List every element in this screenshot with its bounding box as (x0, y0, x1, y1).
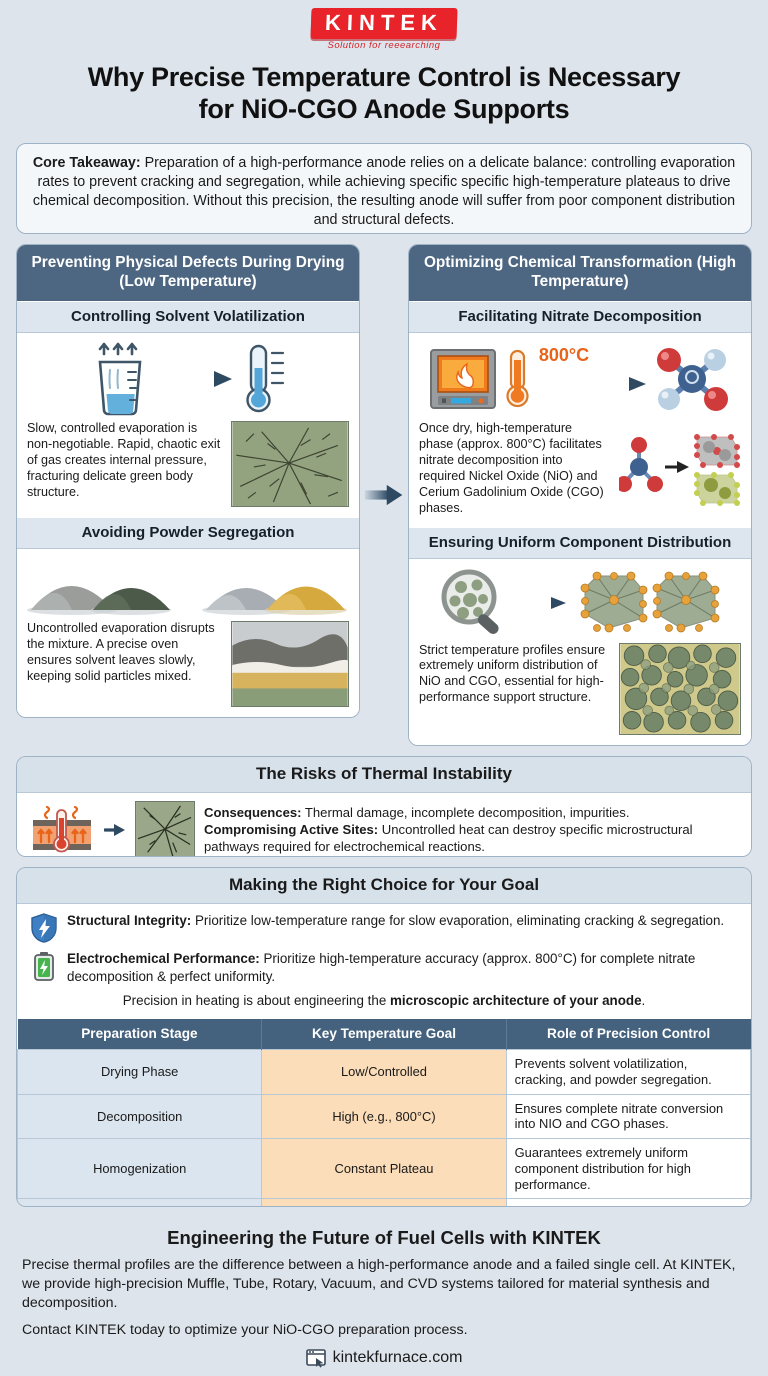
cell-role: Protects microscopic architecture and pr… (506, 1199, 750, 1207)
cell-role: Prevents solvent volatilization, crackin… (506, 1050, 750, 1094)
two-column-section: Preventing Physical Defects During Dryin… (16, 244, 752, 745)
footer-website[interactable]: kintekfurnace.com (22, 1348, 746, 1368)
cell-role: Ensures complete nitrate conversion into… (506, 1094, 750, 1138)
table-row: Drying Phase Low/Controlled Prevents sol… (18, 1050, 751, 1094)
table-row: Decomposition High (e.g., 800°C) Ensures… (18, 1094, 751, 1138)
arrow-right-icon (172, 370, 234, 388)
magnifier-icon (439, 569, 509, 637)
footer-paragraph: Precise thermal profiles are the differe… (22, 1256, 746, 1313)
choice-item-0-label: Structural Integrity: (67, 913, 191, 928)
right-column-panel: Optimizing Chemical Transformation (High… (408, 244, 752, 745)
left-column-panel: Preventing Physical Defects During Dryin… (16, 244, 360, 718)
table-head: Preparation Stage Key Temperature Goal R… (18, 1019, 751, 1050)
core-takeaway-card: Core Takeaway: Preparation of a high-per… (16, 143, 752, 234)
infographic-page: KINTEK Solution for reeearching Why Prec… (0, 0, 768, 1376)
left-column-header: Preventing Physical Defects During Dryin… (17, 245, 359, 301)
cell-stage: Decomposition (18, 1094, 262, 1138)
arrow-right-icon (364, 484, 404, 506)
right-block-1-text: Strict temperature profiles ensure extre… (419, 643, 609, 706)
footer-contact: Contact KINTEK today to optimize your Ni… (22, 1321, 746, 1340)
left-block-1-text-row: Uncontrolled evaporation disrupts the mi… (27, 621, 349, 707)
cell-stage: Drying Phase (18, 1050, 262, 1094)
right-block-0-text-row: Once dry, high-temperature phase (approx… (419, 421, 741, 516)
right-block-1-body: Strict temperature profiles ensure extre… (409, 559, 751, 745)
uniform-distribution-illustration (419, 567, 741, 639)
cell-role: Guarantees extremely uniform component d… (506, 1139, 750, 1199)
battery-bolt-icon (31, 951, 57, 981)
table-col-role-of-precision-control: Role of Precision Control (506, 1019, 750, 1050)
left-block-1-text: Uncontrolled evaporation disrupts the mi… (27, 621, 221, 684)
table-body: Drying Phase Low/Controlled Prevents sol… (18, 1050, 751, 1207)
right-block-0-subhead: Facilitating Nitrate Decomposition (409, 301, 751, 333)
page-title-line1: Why Precise Temperature Control is Neces… (88, 62, 681, 92)
cell-goal: Low/Controlled (262, 1050, 506, 1094)
right-block-0-text: Once dry, high-temperature phase (approx… (419, 421, 609, 516)
thermometer-hot-icon (503, 348, 533, 410)
shield-bolt-icon (31, 913, 57, 943)
risks-body: Consequences: Thermal damage, incomplete… (17, 793, 751, 858)
powder-piles-illustration (27, 557, 349, 617)
temperature-badge: 800°C (539, 345, 589, 366)
table-row: Structural Cooling Controlled Ramp Prote… (18, 1199, 751, 1207)
left-block-0-text-row: Slow, controlled evaporation is non-nego… (27, 421, 349, 507)
cell-goal: High (e.g., 800°C) (262, 1094, 506, 1138)
page-footer: Engineering the Future of Fuel Cells wit… (0, 1217, 768, 1376)
nitrate-to-oxides-illustration (619, 427, 741, 511)
thermometer-icon (244, 342, 292, 416)
cracked-green-body-image (231, 421, 349, 507)
table-header-row: Preparation Stage Key Temperature Goal R… (18, 1019, 751, 1050)
choice-item-0-body: Prioritize low-temperature range for slo… (191, 913, 724, 928)
right-block-0-body: 800°C (409, 333, 751, 526)
risks-line-2-label: Compromising Active Sites: (204, 822, 378, 837)
cgo-crystal (694, 472, 740, 506)
right-column-header: Optimizing Chemical Transformation (High… (409, 245, 751, 301)
choice-note: Precision in heating is about engineerin… (31, 992, 737, 1010)
choice-note-bold: microscopic architecture of your anode (390, 993, 642, 1008)
layered-segregation-image (231, 621, 349, 707)
beaker-icon (84, 342, 162, 416)
table-col-preparation-stage: Preparation Stage (18, 1019, 262, 1050)
risks-line-1-label: Consequences: (204, 805, 302, 820)
furnace-icon (429, 348, 497, 410)
preparation-stage-table: Preparation Stage Key Temperature Goal R… (17, 1019, 751, 1207)
beaker-evaporation-illustration (27, 341, 349, 417)
core-takeaway-label: Core Takeaway: (33, 155, 141, 171)
choice-note-prefix: Precision in heating is about engineerin… (123, 993, 390, 1008)
choice-item-1-text: Electrochemical Performance: Prioritize … (67, 950, 737, 985)
risks-line-1: Consequences: Thermal damage, incomplete… (204, 804, 739, 821)
crystal-lattice-pair-icon (579, 570, 721, 636)
choice-item-0-text: Structural Integrity: Prioritize low-tem… (67, 912, 737, 929)
left-block-1-subhead: Avoiding Powder Segregation (17, 517, 359, 549)
footer-title: Engineering the Future of Fuel Cells wit… (22, 1227, 746, 1249)
table-col-key-temperature-goal: Key Temperature Goal (262, 1019, 506, 1050)
risks-line-2: Compromising Active Sites: Uncontrolled … (204, 821, 739, 855)
browser-window-icon (306, 1348, 326, 1368)
nio-crystal (694, 434, 740, 468)
furnace-decomposition-illustration: 800°C (419, 341, 741, 417)
cell-stage: Homogenization (18, 1139, 262, 1199)
arrow-right-icon (595, 376, 647, 392)
risks-line-1-text: Thermal damage, incomplete decomposition… (302, 805, 630, 820)
cracked-surface-image (135, 801, 195, 858)
left-block-0-body: Slow, controlled evaporation is non-nego… (17, 333, 359, 517)
right-block-1-subhead: Ensuring Uniform Component Distribution (409, 527, 751, 559)
arrow-right-icon (521, 596, 567, 610)
arrow-right-icon (104, 823, 126, 837)
choice-item-structural-integrity: Structural Integrity: Prioritize low-tem… (31, 912, 737, 943)
page-header: KINTEK Solution for reeearching Why Prec… (0, 0, 768, 135)
table-row: Homogenization Constant Plateau Guarante… (18, 1139, 751, 1199)
choice-title: Making the Right Choice for Your Goal (17, 868, 751, 904)
choice-body: Structural Integrity: Prioritize low-tem… (17, 904, 751, 1019)
cell-goal: Constant Plateau (262, 1139, 506, 1199)
kintek-logo: KINTEK Solution for reeearching (311, 8, 457, 51)
page-title-line2: for NiO-CGO Anode Supports (199, 94, 570, 124)
lattice-left (581, 572, 647, 632)
kintek-logo-tagline: Solution for reeearching (311, 40, 457, 51)
choice-note-suffix: . (642, 993, 646, 1008)
footer-website-text: kintekfurnace.com (333, 1349, 463, 1367)
cell-goal: Controlled Ramp (262, 1199, 506, 1207)
risks-text: Consequences: Thermal damage, incomplete… (204, 804, 739, 855)
cell-stage: Structural Cooling (18, 1199, 262, 1207)
choice-item-electrochemical-performance: Electrochemical Performance: Prioritize … (31, 950, 737, 985)
segregated-powder-piles-icon (201, 558, 349, 616)
lattice-right (653, 572, 719, 632)
page-title: Why Precise Temperature Control is Neces… (26, 62, 742, 125)
overheating-plate-icon (29, 806, 95, 854)
column-connector (360, 244, 408, 745)
mixed-powder-piles-icon (27, 558, 175, 616)
risks-title: The Risks of Thermal Instability (17, 757, 751, 793)
left-block-0-subhead: Controlling Solvent Volatilization (17, 301, 359, 333)
risks-card: The Risks of Thermal Instability (16, 756, 752, 858)
right-block-1-text-row: Strict temperature profiles ensure extre… (419, 643, 741, 735)
left-block-0-text: Slow, controlled evaporation is non-nego… (27, 421, 221, 500)
uniform-microstructure-image (619, 643, 741, 735)
left-block-1-body: Uncontrolled evaporation disrupts the mi… (17, 549, 359, 717)
choice-item-1-label: Electrochemical Performance: (67, 951, 260, 966)
nitrate-molecule-icon (653, 344, 731, 414)
kintek-logo-text: KINTEK (311, 8, 458, 39)
choice-card: Making the Right Choice for Your Goal St… (16, 867, 752, 1207)
